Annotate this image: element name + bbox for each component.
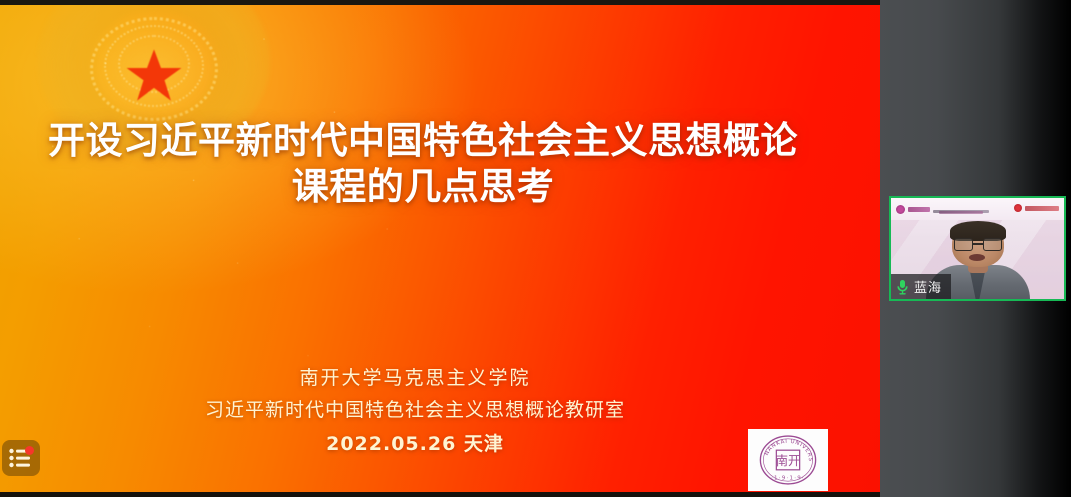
presentation-slide: 开设习近平新时代中国特色社会主义思想概论 课程的几点思考 南开大学马克思主义学院… — [0, 5, 880, 492]
banner-logo-icon — [896, 205, 905, 214]
slide-footer-institution: 南开大学马克思主义学院 — [0, 363, 830, 393]
shared-screen-stage[interactable]: 开设习近平新时代中国特色社会主义思想概论 课程的几点思考 南开大学马克思主义学院… — [0, 0, 880, 497]
slide-footer: 南开大学马克思主义学院 习近平新时代中国特色社会主义思想概论教研室 2022.0… — [0, 363, 830, 461]
meeting-window: 开设习近平新时代中国特色社会主义思想概论 课程的几点思考 南开大学马克思主义学院… — [0, 0, 1071, 497]
svg-text:开: 开 — [788, 454, 800, 468]
banner-logo-text — [908, 207, 930, 212]
svg-text:南: 南 — [776, 453, 788, 468]
slide-footer-date-location: 2022.05.26 天津 — [0, 427, 830, 461]
svg-text:·1·9·1·9·: ·1·9·1·9· — [771, 476, 805, 482]
participant-name: 蓝海 — [914, 277, 942, 296]
banner-secondary-logo-text — [1025, 206, 1059, 211]
slide-title-line2: 课程的几点思考 — [0, 164, 846, 210]
letterbox-bottom — [0, 492, 880, 497]
banner-secondary-logo-icon — [1014, 204, 1022, 212]
microphone-icon[interactable] — [896, 279, 909, 295]
video-background-banner — [891, 198, 1064, 220]
nankai-university-seal-icon: NANKAI UNIVERSITY 南 开 ·1·9·1·9· — [748, 429, 828, 491]
slide-footer-department: 习近平新时代中国特色社会主义思想概论教研室 — [0, 393, 830, 427]
participant-name-badge: 蓝海 — [891, 274, 951, 299]
banner-subtitle-text — [939, 211, 983, 214]
glasses-icon — [954, 238, 1002, 251]
slide-title-line1: 开设习近平新时代中国特色社会主义思想概论 — [48, 119, 798, 162]
participant-video-tile[interactable]: 蓝海 — [889, 196, 1066, 301]
banner-right-group — [1014, 204, 1059, 212]
star-shape-icon — [124, 47, 184, 103]
notification-badge — [25, 446, 34, 455]
agenda-list-button[interactable] — [2, 440, 40, 476]
slide-title: 开设习近平新时代中国特色社会主义思想概论 课程的几点思考 — [0, 118, 846, 210]
